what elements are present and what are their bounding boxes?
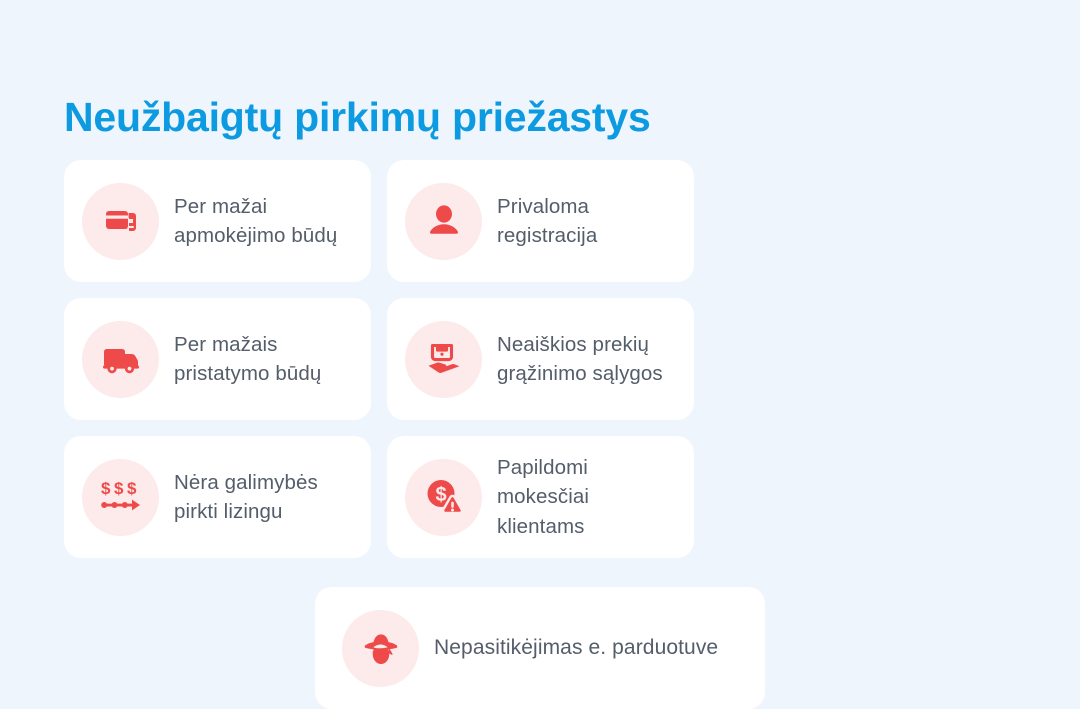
reasons-last-row: Nepasitikėjimas e. parduotuve xyxy=(64,574,1016,709)
svg-text:$: $ xyxy=(127,479,137,498)
reason-card-label: Nepasitikėjimas e. parduotuve xyxy=(434,633,718,663)
reason-card-payment-methods[interactable]: Per mažai apmokėjimo būdų xyxy=(64,160,371,282)
user-icon xyxy=(405,183,482,260)
delivery-truck-icon xyxy=(82,321,159,398)
reason-card-mandatory-registration[interactable]: Privaloma registracija xyxy=(387,160,694,282)
reason-card-label: Papildomi mokesčiai klientams xyxy=(497,453,676,540)
dollar-coin-warning-icon: $ xyxy=(405,459,482,536)
svg-text:$: $ xyxy=(114,479,124,498)
credit-cards-icon xyxy=(82,183,159,260)
return-box-hand-icon xyxy=(405,321,482,398)
reason-card-return-policy[interactable]: Neaiškios prekių grąžinimo sąlygos xyxy=(387,298,694,420)
page-title: Neužbaigtų pirkimų priežastys xyxy=(64,93,651,141)
reason-card-label: Privaloma registracija xyxy=(497,192,676,250)
reason-card-extra-fees[interactable]: $ Papildomi mokesčiai klientams xyxy=(387,436,694,558)
reason-card-label: Neaiškios prekių grąžinimo sąlygos xyxy=(497,330,676,388)
reason-card-delivery-methods[interactable]: Per mažais pristatymo būdų xyxy=(64,298,371,420)
reason-card-label: Per mažai apmokėjimo būdų xyxy=(174,192,353,250)
bandit-face-icon xyxy=(342,610,419,687)
svg-text:$: $ xyxy=(435,484,446,506)
reason-card-label: Nėra galimybės pirkti lizingu xyxy=(174,468,353,526)
reason-card-no-installments[interactable]: $ $ $ Nėra galimybės pirkti lizingu xyxy=(64,436,371,558)
svg-text:$: $ xyxy=(101,479,111,498)
reason-card-label: Per mažais pristatymo būdų xyxy=(174,330,353,388)
reasons-card-grid: Per mažai apmokėjimo būdų Privaloma regi… xyxy=(64,160,1016,709)
infographic-root: Neužbaigtų pirkimų priežastys Per mažai … xyxy=(0,0,1080,608)
reason-card-distrust[interactable]: Nepasitikėjimas e. parduotuve xyxy=(315,587,765,709)
installments-dollars-arrow-icon: $ $ $ xyxy=(82,459,159,536)
